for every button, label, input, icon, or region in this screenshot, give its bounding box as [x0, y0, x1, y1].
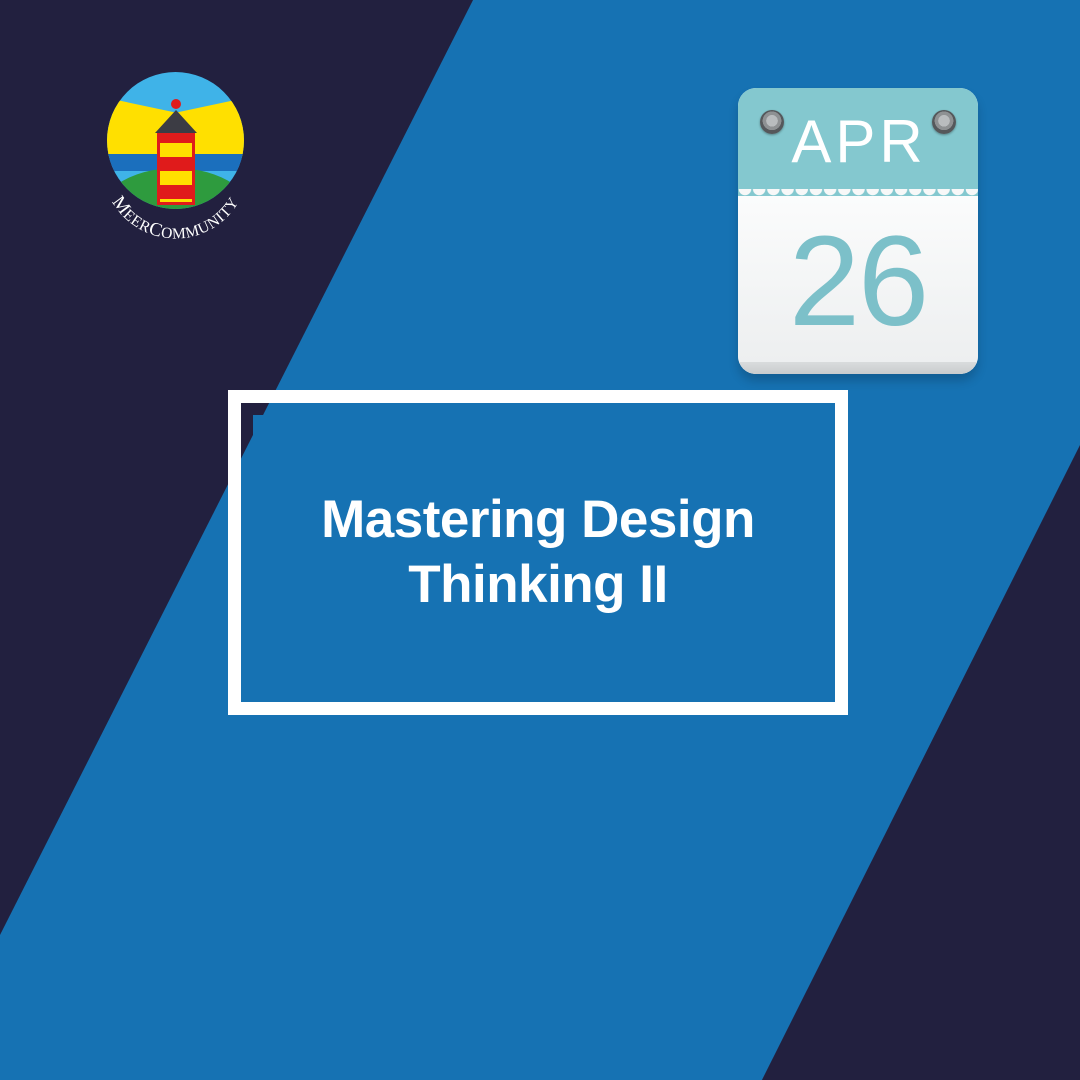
logo-wordmark: MEERCOMMUNITY	[97, 72, 254, 229]
page-title: Mastering Design Thinking II	[295, 488, 781, 617]
calendar-month-label: APR	[791, 112, 926, 172]
svg-text:MEERCOMMUNITY: MEERCOMMUNITY	[108, 192, 243, 242]
calendar-body: 26	[738, 196, 978, 374]
calendar-base-shadow	[738, 362, 978, 374]
brand-logo[interactable]: MEERCOMMUNITY	[97, 72, 254, 229]
calendar-header: APR	[738, 88, 978, 196]
calendar-binder-ring-right-icon	[932, 110, 956, 134]
title-line-1: Mastering Design	[321, 490, 755, 549]
calendar-perforation	[738, 189, 978, 203]
event-title-frame: Mastering Design Thinking II	[228, 390, 848, 715]
calendar-binder-ring-left-icon	[760, 110, 784, 134]
title-panel: Mastering Design Thinking II	[253, 415, 823, 690]
calendar-day-number: 26	[789, 218, 927, 346]
logo-wordmark-ommunity: OMMUNITY	[160, 194, 242, 242]
calendar-icon[interactable]: APR 26	[738, 88, 978, 374]
title-line-2: Thinking II	[408, 555, 667, 614]
poster-canvas: MEERCOMMUNITY APR 26 Mastering Design Th…	[0, 0, 1080, 1080]
